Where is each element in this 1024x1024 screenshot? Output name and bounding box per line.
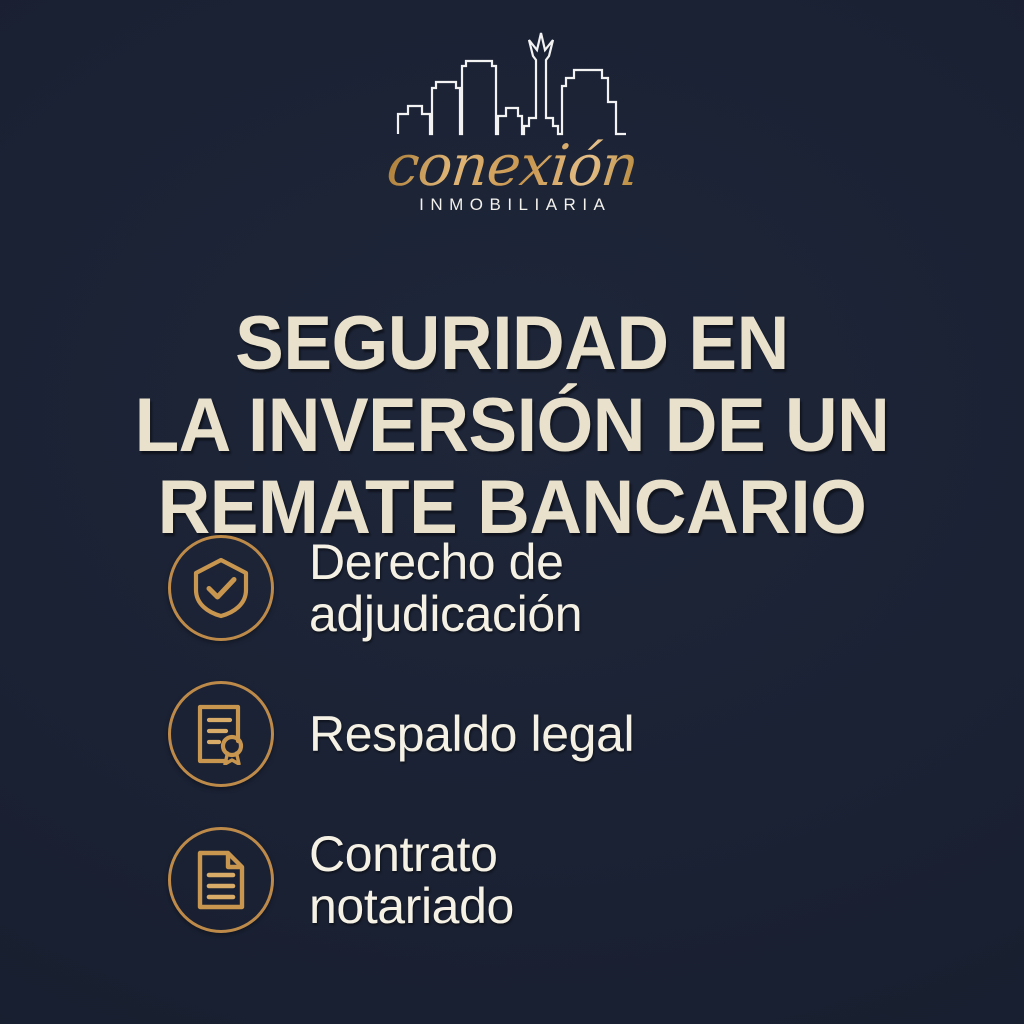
list-item-label: Respaldo legal [309, 708, 634, 760]
shield-check-icon [168, 535, 274, 641]
list-item-label-line-2: adjudicación [309, 588, 582, 640]
promo-poster: conexión INMOBILIARIA SEGURIDAD EN LA IN… [0, 0, 1024, 1024]
list-item-label: Derecho de adjudicación [309, 536, 582, 640]
headline-line-1: SEGURIDAD EN [20, 303, 1003, 385]
feature-list: Derecho de adjudicación Respaldo legal [168, 530, 968, 968]
list-item-label-line-2: notariado [309, 880, 514, 932]
list-item-label-line-1: Respaldo legal [309, 708, 634, 760]
document-lines-icon [168, 827, 274, 933]
city-skyline-icon [396, 30, 628, 136]
page-title: SEGURIDAD EN LA INVERSIÓN DE UN REMATE B… [20, 303, 1003, 549]
brand-logo: conexión INMOBILIARIA [0, 30, 1024, 215]
list-item: Respaldo legal [168, 676, 968, 792]
list-item: Derecho de adjudicación [168, 530, 968, 646]
list-item-label: Contrato notariado [309, 828, 514, 932]
list-item-label-line-1: Derecho de [309, 536, 582, 588]
brand-script-name: conexión [378, 138, 647, 199]
certificate-seal-icon [168, 681, 274, 787]
headline-line-2: LA INVERSIÓN DE UN [20, 385, 1003, 467]
list-item: Contrato notariado [168, 822, 968, 938]
list-item-label-line-1: Contrato [309, 828, 514, 880]
